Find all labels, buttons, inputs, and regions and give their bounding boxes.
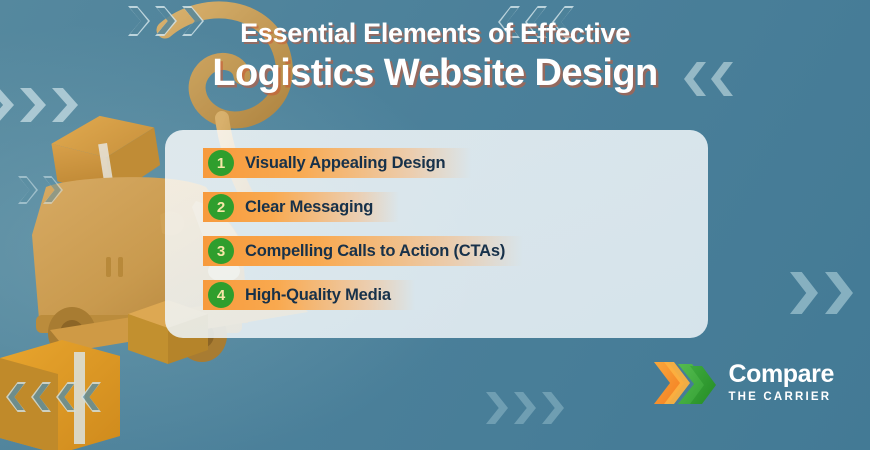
list-item-label: High-Quality Media	[245, 286, 391, 305]
chevron-decor-bottom-center	[486, 392, 564, 424]
list-item-number-badge: 1	[208, 150, 234, 176]
brand-logo: Compare THE CARRIER	[650, 358, 834, 408]
chevron-decor-bottom-left	[6, 382, 101, 412]
logo-text-block: Compare THE CARRIER	[728, 362, 834, 404]
compare-the-carrier-mark-icon	[650, 358, 716, 408]
list-item-label: Visually Appealing Design	[245, 154, 445, 173]
list-item-label: Clear Messaging	[245, 198, 373, 217]
logo-tagline: THE CARRIER	[728, 392, 834, 404]
elements-list-card: 1 Visually Appealing Design 2 Clear Mess…	[165, 130, 708, 338]
list-item-label: Compelling Calls to Action (CTAs)	[245, 242, 505, 261]
list-item-number-badge: 2	[208, 194, 234, 220]
promo-banner: Essential Elements of Effective Logistic…	[0, 0, 870, 450]
list-item: 3 Compelling Calls to Action (CTAs)	[165, 236, 708, 266]
chevron-decor-right-mid	[790, 272, 853, 314]
headline-line-2: Logistics Website Design	[0, 51, 870, 97]
list-item: 2 Clear Messaging	[165, 192, 708, 222]
headline-block: Essential Elements of Effective Logistic…	[0, 18, 870, 97]
chevron-decor-bottom-left-lower	[18, 176, 63, 204]
logo-name: Compare	[728, 362, 834, 387]
list-item-number-badge: 3	[208, 238, 234, 264]
headline-line-1: Essential Elements of Effective	[0, 18, 870, 49]
list-item: 1 Visually Appealing Design	[165, 148, 708, 178]
list-item: 4 High-Quality Media	[165, 280, 708, 310]
list-item-number-badge: 4	[208, 282, 234, 308]
